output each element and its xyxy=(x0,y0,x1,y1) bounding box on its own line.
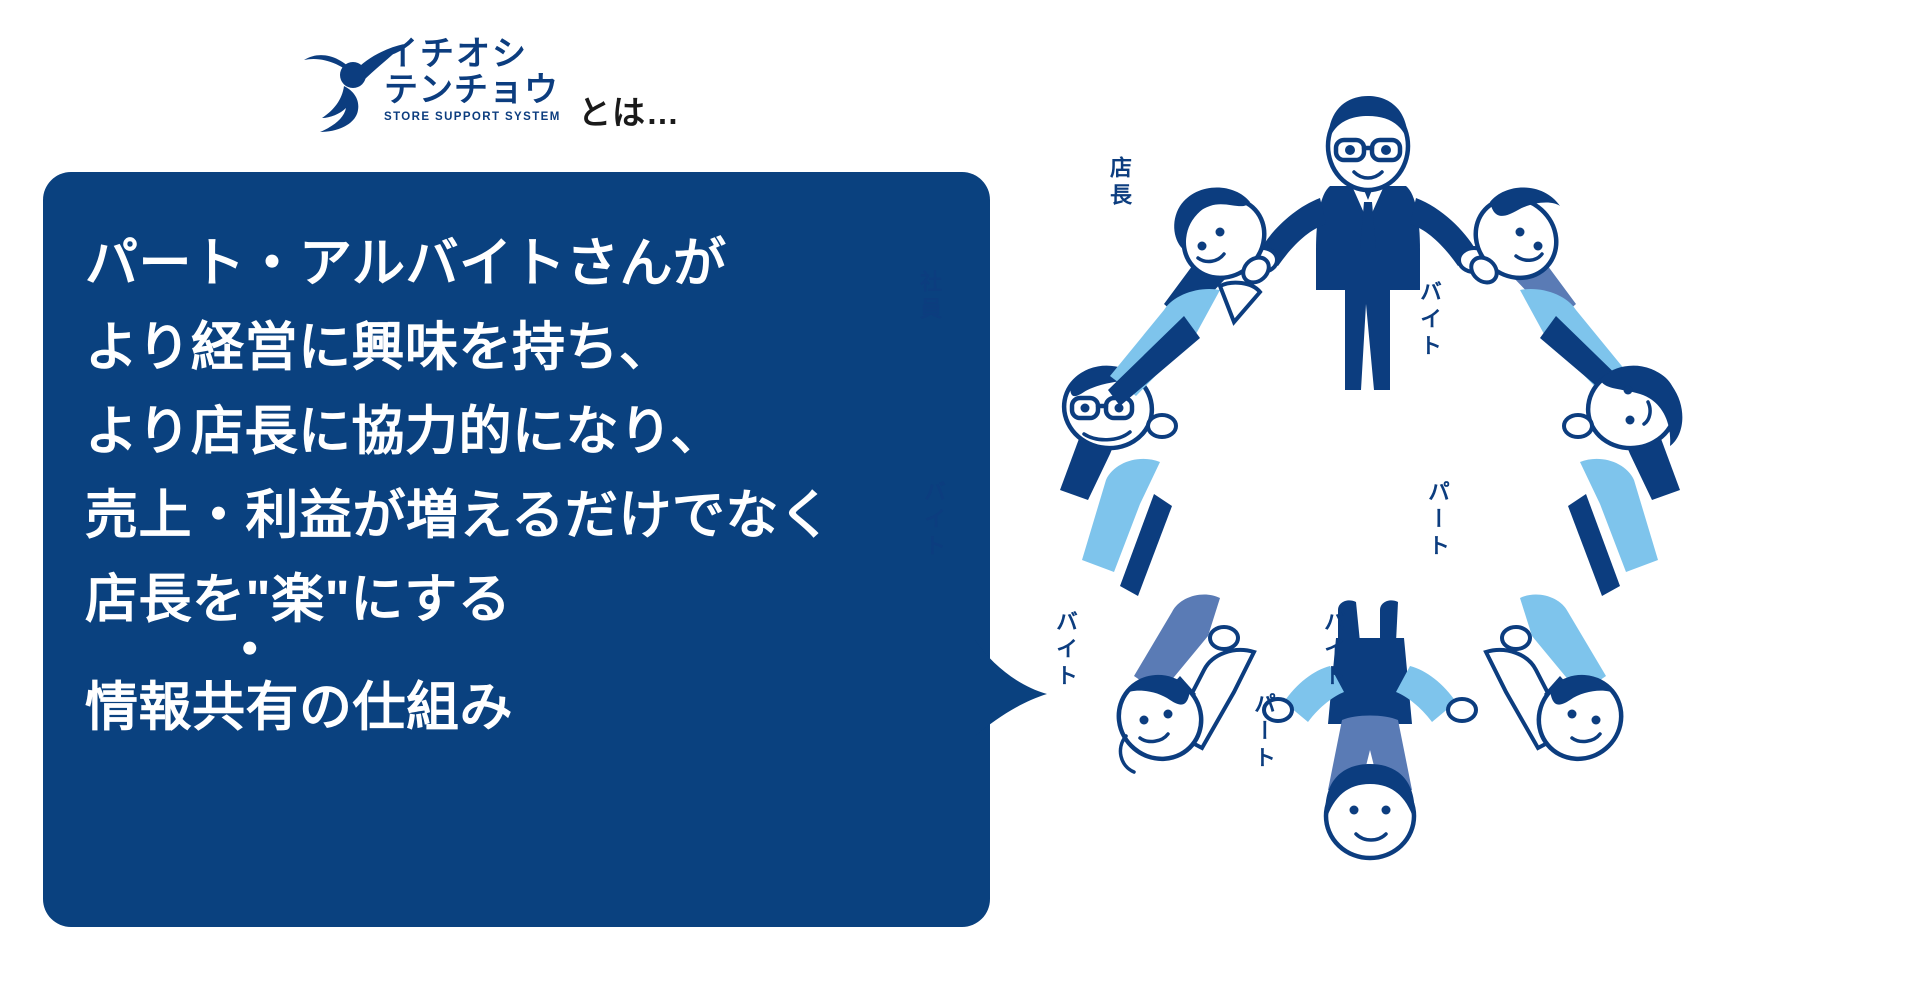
role-label-manager: 店長 xyxy=(1108,156,1130,210)
logo-tagline: STORE SUPPORT SYSTEM xyxy=(384,111,564,123)
circle-of-staff-illustration: .dk { fill:#0c3d7f; } .lb { fill:#7ec4ec… xyxy=(1020,90,1720,920)
bubble-line-5: 店長を"楽"にする xyxy=(85,558,985,642)
bubble-line-2: より経営に興味を持ち、 xyxy=(85,306,985,390)
bubble-line-3: より店長に協力的になり、 xyxy=(85,390,985,474)
person-employee-top-left xyxy=(1108,182,1281,406)
role-label-part-timer-bottom-right: バイト xyxy=(1322,610,1344,691)
person-part-time-right xyxy=(1564,361,1682,596)
person-part-timer-top-right xyxy=(1459,182,1632,406)
logo-line-2: テンチョウ xyxy=(384,72,564,108)
role-label-part-time-right: パート xyxy=(1426,480,1448,561)
bubble-line-4: 売上・利益が増えるだけでなく xyxy=(85,474,985,558)
person-part-time-bottom xyxy=(1264,600,1476,858)
poster-canvas: イチオシ テンチョウ STORE SUPPORT SYSTEM とは… パート・… xyxy=(0,0,1910,1000)
person-part-timer-bottom-right xyxy=(1486,594,1638,775)
logo-line-1: イチオシ xyxy=(384,36,564,72)
brand-wordmark: イチオシ テンチョウ STORE SUPPORT SYSTEM xyxy=(384,36,564,123)
brand-logo: イチオシ テンチョウ STORE SUPPORT SYSTEM xyxy=(300,36,560,136)
person-manager xyxy=(1247,96,1489,390)
role-label-part-time-bottom: パート xyxy=(1252,692,1274,773)
speech-bubble-text: パート・アルバイトさんが より経営に興味を持ち、 より店長に協力的になり、 売上… xyxy=(85,222,985,750)
bubble-line-1: パート・アルバイトさんが xyxy=(85,222,985,306)
role-label-part-timer-bottom-left: バイト xyxy=(1054,610,1076,691)
person-part-timer-bottom-left xyxy=(1102,594,1254,775)
toha-suffix-text: とは… xyxy=(578,86,680,134)
role-label-employee: 社員 xyxy=(918,270,940,324)
bubble-line-6: 情報共有の仕組み xyxy=(85,666,985,750)
role-label-part-timer-top-right: バイト xyxy=(1418,280,1440,361)
staff-circle-svg: .dk { fill:#0c3d7f; } .lb { fill:#7ec4ec… xyxy=(1020,90,1720,920)
role-label-part-timer-left: バイト xyxy=(922,480,944,561)
